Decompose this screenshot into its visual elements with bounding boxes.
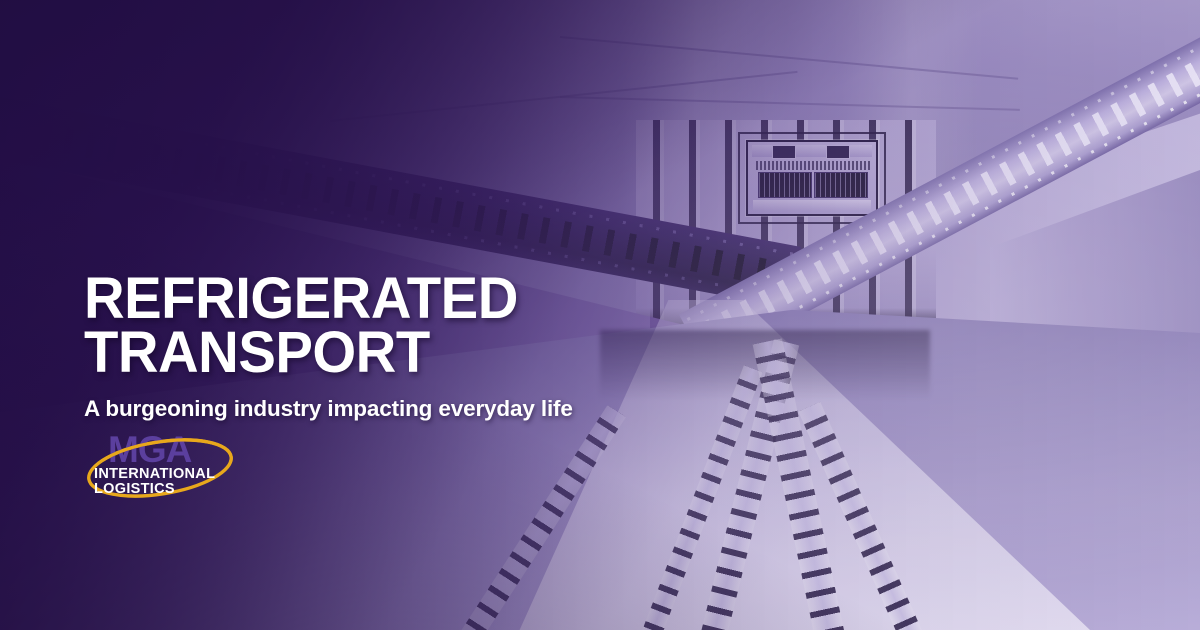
hero-banner: REFRIGERATED TRANSPORT A burgeoning indu… [0, 0, 1200, 630]
page-title: REFRIGERATED TRANSPORT [84, 272, 705, 380]
headline-line-1: REFRIGERATED [84, 272, 705, 326]
mga-logo-svg: MGA INTERNATIONAL LOGISTICS [84, 428, 240, 506]
logo-wordmark: MGA [108, 429, 192, 470]
logo-tagline-line-1: INTERNATIONAL [94, 466, 215, 482]
logo-tagline-line-2: LOGISTICS [94, 481, 175, 497]
page-subtitle: A burgeoning industry impacting everyday… [84, 396, 724, 422]
mga-logo[interactable]: MGA INTERNATIONAL LOGISTICS [84, 428, 240, 506]
banner-content: REFRIGERATED TRANSPORT A burgeoning indu… [84, 272, 724, 422]
headline-line-2: TRANSPORT [84, 326, 705, 380]
